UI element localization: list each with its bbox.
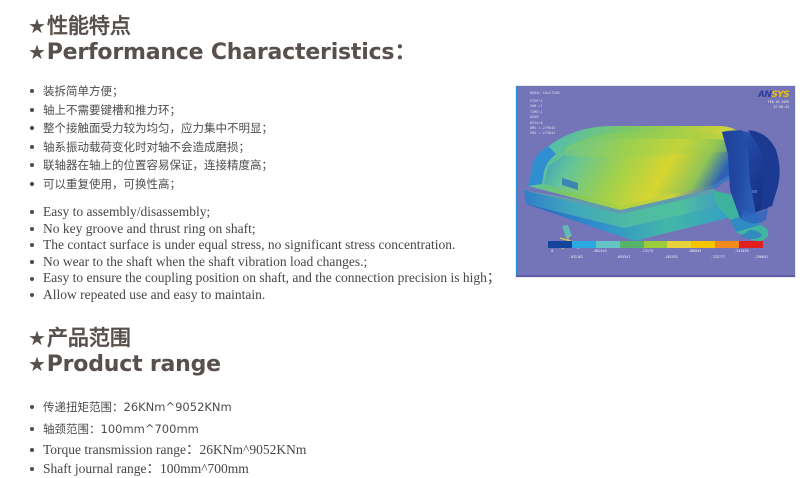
colorbar-swatch: [572, 241, 596, 248]
colorbar-tick: .094347: [616, 255, 630, 259]
bullet-icon: [30, 405, 34, 409]
product-range-bullets-cn: 传递扭矩范围：26KNm^9052KNm 轴颈范围：100mm^700mm: [30, 396, 232, 440]
performance-heading-en: ★Performance Characteristics：: [28, 39, 416, 66]
list-item-label: 轴颈范围：100mm^700mm: [43, 422, 199, 436]
list-item-label: The contact surface is under equal stres…: [43, 237, 455, 252]
list-item-label: 轴系振动载荷变化时对轴不会造成磨损；: [43, 140, 250, 154]
performance-heading-en-text: Performance Characteristics：: [47, 40, 416, 65]
colorbar-swatch: [715, 241, 739, 248]
list-item: Easy to ensure the coupling position on …: [30, 270, 500, 287]
list-item: 轴系振动载荷变化时对轴不会造成磨损；: [30, 138, 273, 157]
panel-bottom-edge: [516, 275, 795, 277]
colorbar-swatch: [548, 241, 572, 248]
list-item-label: 联轴器在轴上的位置容易保证，连接精度高；: [43, 158, 273, 172]
product-range-heading-cn: ★产品范围: [28, 326, 221, 351]
product-spec-page: ★性能特点 ★Performance Characteristics： 装拆简单…: [0, 0, 811, 477]
performance-heading-cn: ★性能特点: [28, 14, 416, 39]
fea-colorbar-strip: [548, 241, 763, 248]
colorbar-swatch: [667, 241, 691, 248]
star-icon: ★: [28, 326, 46, 351]
list-item-label: 装拆简单方便；: [43, 84, 124, 98]
product-range-bullets-en: Torque transmission range：26KNm^9052KNm …: [30, 440, 306, 478]
list-item: 装拆简单方便；: [30, 82, 273, 101]
bullet-icon: [30, 227, 34, 231]
list-item-label: 传递扭矩范围：26KNm^9052KNm: [43, 400, 232, 414]
star-icon: ★: [28, 14, 46, 39]
list-item: Torque transmission range：26KNm^9052KNm: [30, 440, 306, 459]
product-range-heading-en-text: Product range: [47, 352, 221, 377]
list-item: 传递扭矩范围：26KNm^9052KNm: [30, 396, 232, 418]
bullet-icon: [30, 427, 34, 431]
colorbar-tick: .162932: [663, 255, 677, 259]
list-item: Easy to assembly/disassembly;: [30, 204, 500, 221]
colorbar-swatch: [644, 241, 668, 248]
product-range-heading-en: ★Product range: [28, 351, 221, 378]
bullet-icon: [30, 126, 34, 130]
fea-colorbar-ticks: 0 .0621e3 .13173 .188845 .2s3439 .031182…: [548, 249, 763, 261]
list-item-label: Torque transmission range：26KNm^9052KNm: [43, 442, 306, 457]
star-icon: ★: [28, 39, 46, 66]
performance-bullets-cn: 装拆简单方便； 轴上不需要键槽和推力环； 整个接触面受力较为均匀，应力集中不明显…: [30, 82, 273, 193]
bullet-icon: [30, 467, 34, 471]
bullet-icon: [30, 277, 34, 281]
bullet-icon: [30, 293, 34, 297]
bullet-icon: [30, 163, 34, 167]
colorbar-tick: .298641: [754, 255, 768, 259]
list-item-label: Easy to assembly/disassembly;: [43, 204, 210, 219]
ansys-wordmark-prefix: AN: [758, 90, 771, 100]
fea-annotation-block: NODAL SOLUTION STEP=1 SUB =1 TIME=1 USUM…: [530, 91, 620, 137]
product-range-heading-cn-text: 产品范围: [47, 326, 131, 350]
colorbar-tick: .2s3439: [734, 249, 748, 253]
list-item: The contact surface is under equal stres…: [30, 237, 500, 254]
bullet-icon: [30, 145, 34, 149]
bullet-icon: [30, 89, 34, 93]
list-item: 轴上不需要键槽和推力环；: [30, 101, 273, 120]
list-item: No wear to the shaft when the shaft vibr…: [30, 254, 500, 271]
list-item: 联轴器在轴上的位置容易保证，连接精度高；: [30, 156, 273, 175]
list-item: Allow repeated use and easy to maintain.: [30, 287, 500, 304]
fea-annotation-line: SMX =.279642: [530, 131, 620, 136]
fea-time-label: 07:08:44: [758, 105, 789, 110]
list-item-label: 轴上不需要键槽和推力环；: [43, 103, 181, 117]
ansys-logo: ANSYS FEB 18 2009 07:08:44: [758, 90, 789, 110]
colorbar-tick: .13173: [641, 249, 653, 253]
colorbar-tick: .188845: [687, 249, 701, 253]
fea-annotation-line: NODAL SOLUTION: [530, 91, 620, 96]
ansys-wordmark: ANSYS: [758, 90, 789, 100]
list-item: 整个接触面受力较为均匀，应力集中不明显；: [30, 119, 273, 138]
performance-heading-cn-text: 性能特点: [47, 14, 131, 38]
list-item-label: No wear to the shaft when the shaft vibr…: [43, 254, 367, 269]
colorbar-tick: 0: [551, 249, 553, 253]
bullet-icon: [30, 260, 34, 264]
ansys-fea-image: X NODAL SOLUTION STEP=1 SUB =1 TIME=1 US…: [516, 86, 795, 277]
bullet-icon: [30, 182, 34, 186]
list-item-label: Allow repeated use and easy to maintain.: [43, 287, 265, 302]
colorbar-swatch: [691, 241, 715, 248]
list-item: 轴颈范围：100mm^700mm: [30, 418, 232, 440]
ansys-wordmark-suffix: SYS: [771, 90, 789, 100]
list-item-label: Easy to ensure the coupling position on …: [43, 270, 500, 285]
star-icon: ★: [28, 351, 46, 378]
list-item-label: Shaft journal range：100mm^700mm: [43, 461, 249, 476]
list-item: 可以重复使用，可换性高；: [30, 175, 273, 194]
list-item-label: 可以重复使用，可换性高；: [43, 177, 181, 191]
list-item-label: 整个接触面受力较为均匀，应力集中不明显；: [43, 121, 273, 135]
colorbar-swatch: [620, 241, 644, 248]
bullet-icon: [30, 243, 34, 247]
list-item: Shaft journal range：100mm^700mm: [30, 459, 306, 478]
product-range-heading-block: ★产品范围 ★Product range: [28, 326, 221, 378]
fea-colorbar: 0 .0621e3 .13173 .188845 .2s3439 .031182…: [548, 241, 763, 261]
colorbar-tick: .0621e3: [592, 249, 606, 253]
colorbar-swatch: [596, 241, 620, 248]
performance-bullets-en: Easy to assembly/disassembly; No key gro…: [30, 204, 500, 304]
colorbar-tick: .031182: [569, 255, 583, 259]
bullet-icon: [30, 448, 34, 452]
bullet-icon: [30, 108, 34, 112]
performance-heading-block: ★性能特点 ★Performance Characteristics：: [28, 14, 416, 66]
colorbar-swatch: [739, 241, 763, 248]
bullet-icon: [30, 210, 34, 214]
list-item-label: No key groove and thrust ring on shaft;: [43, 221, 256, 236]
colorbar-tick: .232777: [711, 255, 725, 259]
list-item: No key groove and thrust ring on shaft;: [30, 221, 500, 238]
